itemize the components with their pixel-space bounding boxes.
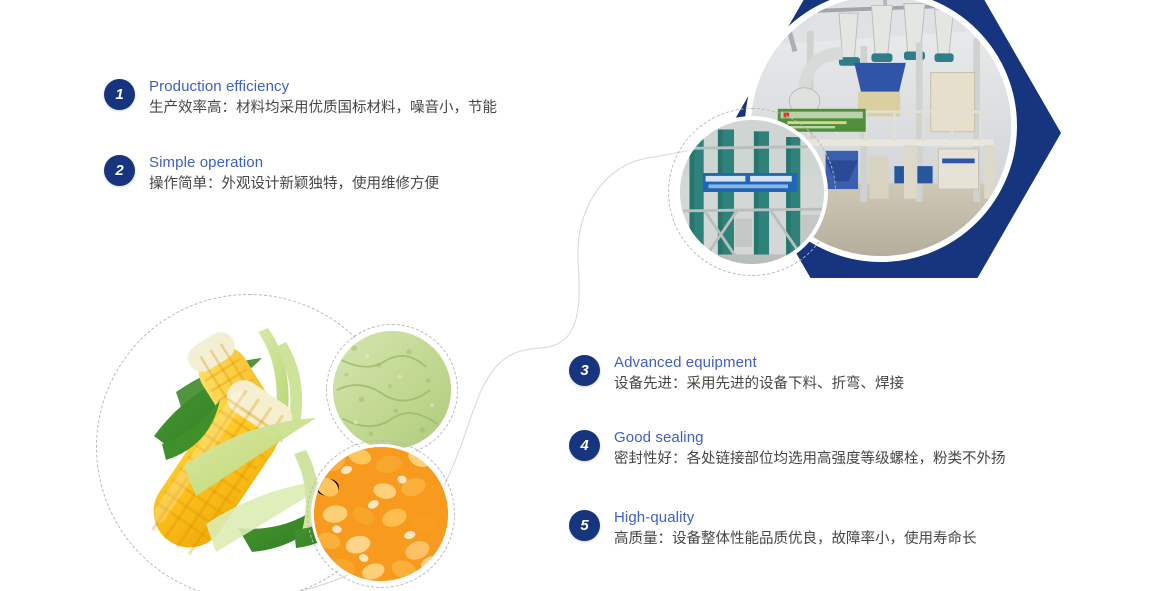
feature-desc-4: 密封性好：各处链接部位均选用高强度等级螺栓，粉类不外扬 — [614, 449, 1006, 470]
feature-badge-2: 2 — [104, 155, 135, 186]
feature-desc-1: 生产效率高：材料均采用优质国标材料，噪音小，节能 — [149, 98, 497, 119]
feature-text-1: Production efficiency 生产效率高：材料均采用优质国标材料，… — [149, 77, 497, 119]
feature-title-5: High-quality — [614, 508, 977, 527]
green-machinery-photo — [676, 116, 828, 268]
feature-badge-1: 1 — [104, 79, 135, 110]
green-corn-dough-photo — [330, 328, 454, 452]
feature-title-2: Simple operation — [149, 153, 439, 172]
feature-item-5[interactable]: 5 High-quality 高质量：设备整体性能品质优良，故障率小，使用寿命长 — [569, 508, 977, 550]
feature-desc-5: 高质量：设备整体性能品质优良，故障率小，使用寿命长 — [614, 529, 977, 550]
feature-badge-5: 5 — [569, 510, 600, 541]
feature-text-3: Advanced equipment 设备先进：采用先进的设备下料、折弯、焊接 — [614, 353, 904, 395]
feature-title-3: Advanced equipment — [614, 353, 904, 372]
feature-item-3[interactable]: 3 Advanced equipment 设备先进：采用先进的设备下料、折弯、焊… — [569, 353, 904, 395]
feature-badge-3: 3 — [569, 355, 600, 386]
feature-title-1: Production efficiency — [149, 77, 497, 96]
corn-kernels-photo — [311, 444, 451, 584]
feature-text-2: Simple operation 操作简单：外观设计新颖独特，使用维修方便 — [149, 153, 439, 195]
feature-badge-4: 4 — [569, 430, 600, 461]
feature-item-1[interactable]: 1 Production efficiency 生产效率高：材料均采用优质国标材… — [104, 77, 497, 119]
feature-desc-2: 操作简单：外观设计新颖独特，使用维修方便 — [149, 174, 439, 195]
feature-item-4[interactable]: 4 Good sealing 密封性好：各处链接部位均选用高强度等级螺栓，粉类不… — [569, 428, 1006, 470]
feature-text-5: High-quality 高质量：设备整体性能品质优良，故障率小，使用寿命长 — [614, 508, 977, 550]
feature-title-4: Good sealing — [614, 428, 1006, 447]
feature-desc-3: 设备先进：采用先进的设备下料、折弯、焊接 — [614, 374, 904, 395]
feature-item-2[interactable]: 2 Simple operation 操作简单：外观设计新颖独特，使用维修方便 — [104, 153, 439, 195]
advantages-infographic: 1 Production efficiency 生产效率高：材料均采用优质国标材… — [0, 0, 1154, 591]
feature-text-4: Good sealing 密封性好：各处链接部位均选用高强度等级螺栓，粉类不外扬 — [614, 428, 1006, 470]
